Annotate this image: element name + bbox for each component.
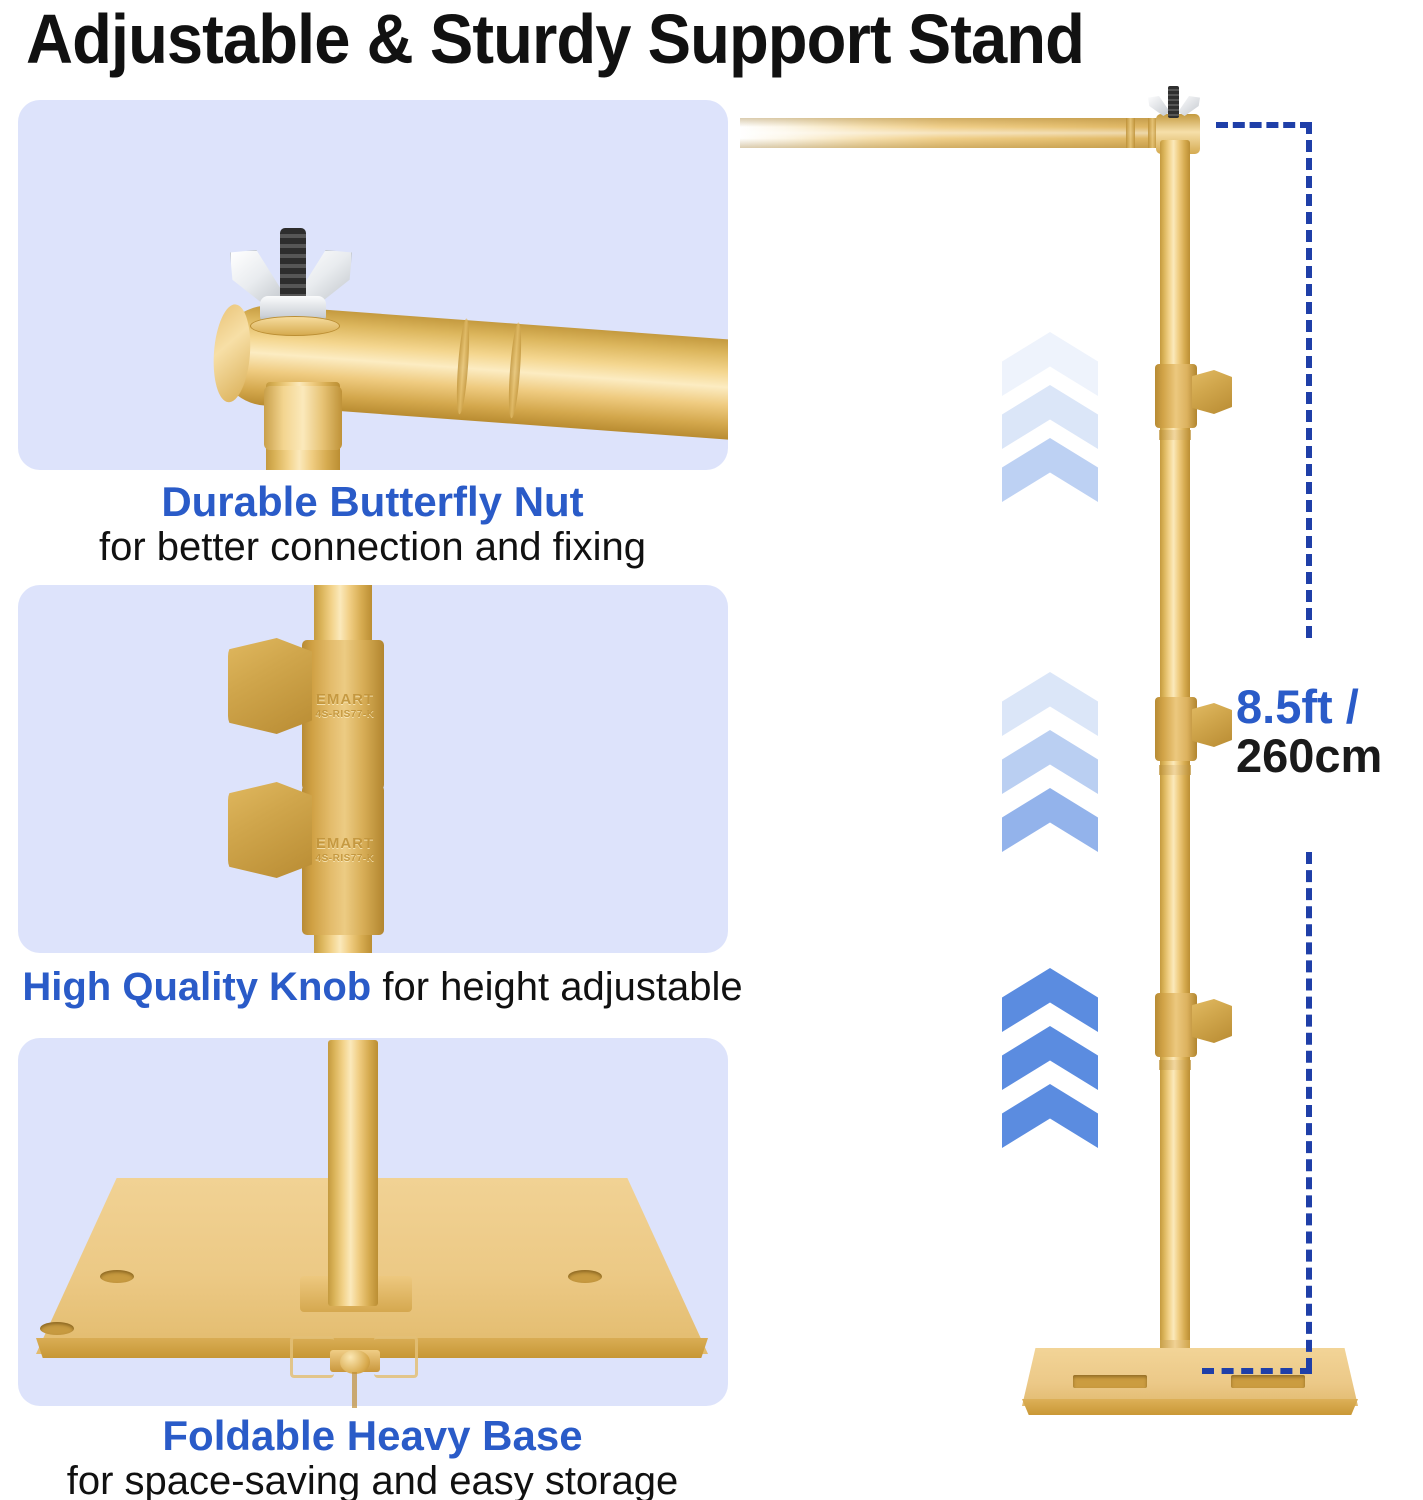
caption-quality-knob: High Quality Knob for height adjustable bbox=[0, 965, 765, 1010]
page-title: Adjustable & Sturdy Support Stand bbox=[26, 2, 1319, 76]
stand-knob-collar-2 bbox=[1155, 697, 1197, 761]
measure-line-right-upper bbox=[1306, 122, 1312, 638]
stand-base-slot bbox=[1073, 1375, 1147, 1388]
crossbar-seam bbox=[1126, 118, 1135, 148]
adjustment-knob-upper bbox=[228, 638, 312, 734]
base-panel-pole bbox=[328, 1040, 378, 1306]
stand-knob-1 bbox=[1192, 370, 1232, 414]
base-mount-hole bbox=[40, 1322, 74, 1335]
caption-subtext: for better connection and fixing bbox=[0, 525, 745, 570]
caption-foldable-base: Foldable Heavy Base for space-saving and… bbox=[0, 1412, 745, 1500]
caption-subtext: for space-saving and easy storage bbox=[0, 1459, 745, 1500]
brand-name: EMART bbox=[316, 691, 374, 708]
base-mount-hole bbox=[568, 1270, 602, 1283]
chevron-up-icon bbox=[1002, 968, 1098, 1032]
brand-name: EMART bbox=[316, 835, 374, 852]
upright-collar bbox=[264, 386, 342, 450]
stand-wing-nut-bolt bbox=[1168, 86, 1179, 118]
measure-line-right-lower bbox=[1306, 852, 1312, 1370]
stand-knob-3 bbox=[1192, 999, 1232, 1043]
wing-nut-washer bbox=[250, 316, 340, 336]
measure-line-bottom bbox=[1202, 1368, 1312, 1374]
measurement-imperial: 8.5ft / bbox=[1236, 683, 1423, 732]
chevron-up-icon bbox=[1002, 438, 1098, 502]
brand-emboss-lower: EMART 4S-RIS77-K bbox=[306, 836, 384, 864]
stand-wing-nut-right-wing bbox=[1178, 96, 1200, 116]
hinge-bracket-right bbox=[374, 1336, 418, 1378]
chevrons-bottom-icon bbox=[1002, 968, 1098, 1148]
hinge-bracket-left bbox=[290, 1336, 334, 1378]
infographic-page: Adjustable & Sturdy Support Stand Durabl… bbox=[0, 0, 1423, 1500]
brand-model: 4S-RIS77-K bbox=[306, 853, 384, 864]
brand-model: 4S-RIS77-K bbox=[306, 709, 384, 720]
stand-knob-2 bbox=[1192, 703, 1232, 747]
caption-heading: Foldable Heavy Base bbox=[0, 1412, 745, 1459]
chevron-up-icon bbox=[1002, 672, 1098, 736]
stand-knob-collar-1 bbox=[1155, 364, 1197, 428]
adjustment-knob-lower bbox=[228, 782, 312, 878]
stand-wing-nut-left-wing bbox=[1148, 96, 1170, 116]
chevron-up-icon bbox=[1002, 1084, 1098, 1148]
caption-butterfly-nut: Durable Butterfly Nut for better connect… bbox=[0, 478, 745, 570]
feature-panel-butterfly-nut bbox=[18, 100, 728, 470]
chevrons-middle-icon bbox=[1002, 672, 1098, 852]
caption-heading: Durable Butterfly Nut bbox=[0, 478, 745, 525]
brand-emboss-upper: EMART 4S-RIS77-K bbox=[306, 692, 384, 720]
chevron-up-icon bbox=[1002, 788, 1098, 852]
pole-segment-seam bbox=[1159, 765, 1191, 775]
measure-line-top bbox=[1216, 122, 1312, 128]
stand-base-slot bbox=[1231, 1375, 1305, 1388]
caption-subtext: for height adjustable bbox=[371, 965, 742, 1009]
pole-segment-seam bbox=[1159, 430, 1191, 440]
caption-heading: High Quality Knob bbox=[22, 965, 371, 1009]
chevrons-top-icon bbox=[1002, 332, 1098, 502]
stand-knob-collar-3 bbox=[1155, 993, 1197, 1057]
hinge-pin bbox=[340, 1350, 370, 1374]
measurement-metric: 260cm bbox=[1236, 732, 1423, 781]
chevron-up-icon bbox=[1002, 730, 1098, 794]
stand-base-plate-edge bbox=[1022, 1399, 1358, 1415]
stand-crossbar-shading bbox=[740, 118, 1190, 148]
height-measurement-label: 8.5ft / 260cm bbox=[1236, 683, 1423, 781]
base-mount-hole bbox=[100, 1270, 134, 1283]
chevron-up-icon bbox=[1002, 1026, 1098, 1090]
base-fold-seam bbox=[352, 1372, 357, 1408]
pole-segment-seam bbox=[1159, 1060, 1191, 1070]
